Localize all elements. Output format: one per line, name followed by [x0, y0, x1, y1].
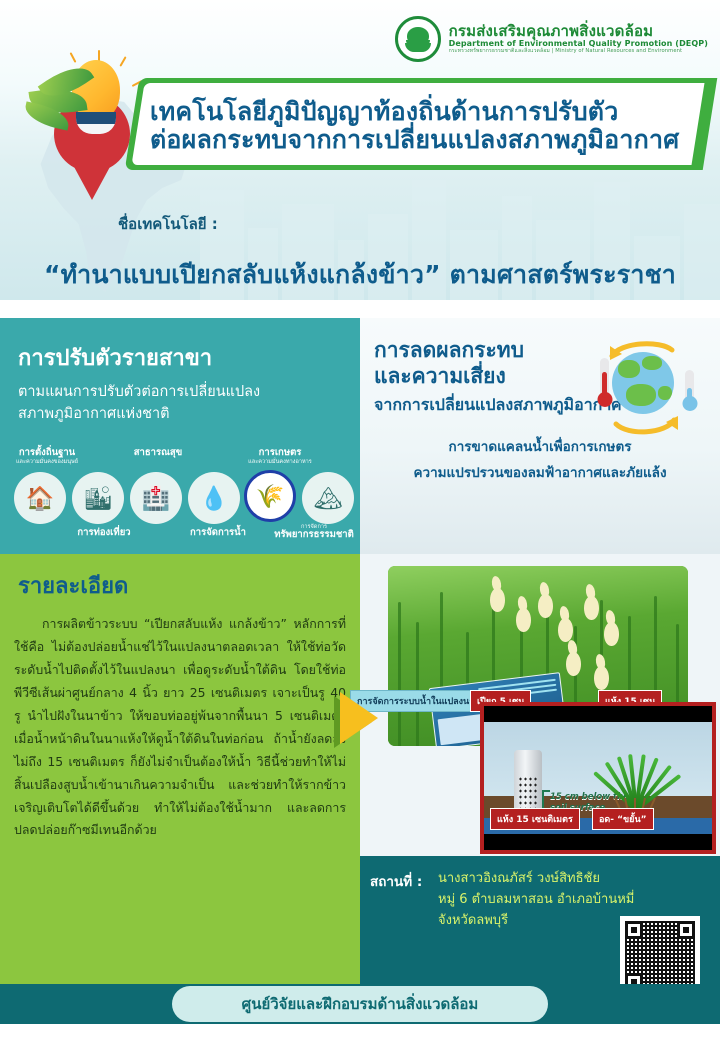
- duck-icon: [584, 596, 599, 620]
- mitigation-heading-line-2: และความเสี่ยง: [374, 364, 506, 388]
- title-line-1: เทคโนโลยีภูมิปัญญาท้องถิ่นด้านการปรับตัว: [150, 98, 710, 126]
- water-management-icon[interactable]: 💧: [188, 472, 240, 524]
- mitigation-heading: การลดผลกระทบ และความเสี่ยง: [374, 338, 574, 389]
- poster-header: กรมส่งเสริมคุณภาพสิ่งแวดล้อม Department …: [0, 0, 720, 300]
- sector-label-settlement: การตั้งถิ่นฐาน และความมั่นคงของมนุษย์: [2, 448, 92, 465]
- settlement-icon[interactable]: 🏠: [14, 472, 66, 524]
- diagram-tag-dry: แห้ง 15 เซนติเมตร: [490, 808, 580, 830]
- rotation-arrow-bottom-icon: [612, 414, 680, 436]
- qr-code-image: [625, 921, 695, 991]
- awd-diagram[interactable]: 15 cm below the soil surface แห้ง 15 เซน…: [480, 702, 716, 854]
- org-name-thai: กรมส่งเสริมคุณภาพสิ่งแวดล้อม: [449, 23, 708, 40]
- org-ministry-line: กระทรวงทรัพยากรธรรมชาติและสิ่งแวดล้อม | …: [449, 49, 708, 55]
- duck-icon: [604, 622, 619, 646]
- globe-icon: [612, 352, 674, 414]
- mitigation-heading-line-1: การลดผลกระทบ: [374, 338, 524, 362]
- adaptation-sub-line-1: ตามแผนการปรับตัวต่อการเปลี่ยนแปลง: [18, 381, 338, 403]
- sector-label-tourism: การท่องเที่ยว: [56, 528, 152, 539]
- duck-icon: [516, 608, 531, 632]
- sector-label-water: การจัดการน้ำ: [172, 528, 264, 539]
- location-value: นางสาวอิงณภัสร์ วงษ์สิทธิชัย หมู่ 6 ตำบล…: [438, 868, 634, 931]
- green-bottom-strip: [0, 956, 360, 984]
- bottom-white-strip: [0, 1024, 720, 1040]
- poster-footer: ศูนย์วิจัยและฝึกอบรมด้านสิ่งแวดล้อม: [0, 984, 720, 1024]
- details-panel: รายละเอียด การผลิตข้าวระบบ “เปียกสลับแห้…: [0, 554, 360, 956]
- risk-line-1: การขาดแคลนน้ำเพื่อการเกษตร: [360, 436, 720, 460]
- natural-resources-icon[interactable]: 🏔: [302, 472, 354, 524]
- details-heading: รายละเอียด: [18, 568, 360, 603]
- deqp-logo: กรมส่งเสริมคุณภาพสิ่งแวดล้อม Department …: [395, 16, 708, 62]
- globe-thermometer-graphic: [582, 340, 698, 436]
- sector-label-publichealth: สาธารณสุข: [116, 448, 200, 459]
- duck-icon: [538, 594, 553, 618]
- technology-label: ชื่อเทคโนโลยี :: [118, 212, 218, 236]
- thermometer-hot-icon: [600, 358, 609, 400]
- duck-icon: [490, 588, 505, 612]
- location-line-1: นางสาวอิงณภัสร์ วงษ์สิทธิชัย: [438, 871, 600, 886]
- location-panel: สถานที่ : นางสาวอิงณภัสร์ วงษ์สิทธิชัย ห…: [360, 856, 720, 984]
- tree-emblem-icon: [395, 16, 441, 62]
- sector-label-agriculture: การเกษตร และความมั่นคงทางอาหาร: [232, 448, 328, 465]
- title-line-2: ต่อผลกระทบจากการเปลี่ยนแปลงสภาพภูมิอากาศ: [150, 126, 710, 154]
- mitigation-panel: การลดผลกระทบ และความเสี่ยง จากการเปลี่ยน…: [360, 318, 720, 554]
- duck-icon: [558, 618, 573, 642]
- agriculture-icon[interactable]: 🌾: [244, 470, 296, 522]
- tourism-icon[interactable]: 🏙: [72, 472, 124, 524]
- duck-icon: [566, 652, 581, 676]
- location-label: สถานที่ :: [370, 870, 422, 892]
- adaptation-heading: การปรับตัวรายสาขา: [18, 340, 360, 375]
- duck-icon: [594, 666, 609, 690]
- details-body-text: การผลิตข้าวระบบ “เปียกสลับแห้ง แกล้งข้าว…: [14, 613, 346, 842]
- location-line-2: หมู่ 6 ตำบลมหาสอน อำเภอบ้านหมี่: [438, 892, 634, 907]
- diagram-tag-khan: อด- “ขยั้น”: [592, 808, 654, 830]
- footer-organization: ศูนย์วิจัยและฝึกอบรมด้านสิ่งแวดล้อม: [172, 986, 549, 1022]
- sector-label-natural-resources: การจัดการ ทรัพยากรธรรมชาติ: [268, 524, 360, 541]
- adaptation-sub-line-2: สภาพภูมิอากาศแห่งชาติ: [18, 403, 338, 425]
- public-health-icon[interactable]: 🏥: [130, 472, 182, 524]
- risk-line-2: ความแปรปรวนของลมฟ้าอากาศและภัยแล้ง: [360, 462, 720, 486]
- thermometer-cold-icon: [685, 370, 694, 404]
- poster-root: กรมส่งเสริมคุณภาพสิ่งแวดล้อม Department …: [0, 0, 720, 1040]
- poster-title: เทคโนโลยีภูมิปัญญาท้องถิ่นด้านการปรับตัว…: [150, 84, 710, 168]
- location-line-3: จังหวัดลพบุรี: [438, 913, 508, 928]
- technology-name: “ทำนาแบบเปียกสลับแห้งแกล้งข้าว” ตามศาสตร…: [0, 255, 720, 295]
- pointer-arrow-icon: [340, 692, 378, 744]
- sector-icon-strip: การตั้งถิ่นฐาน และความมั่นคงของมนุษย์ สา…: [0, 448, 360, 554]
